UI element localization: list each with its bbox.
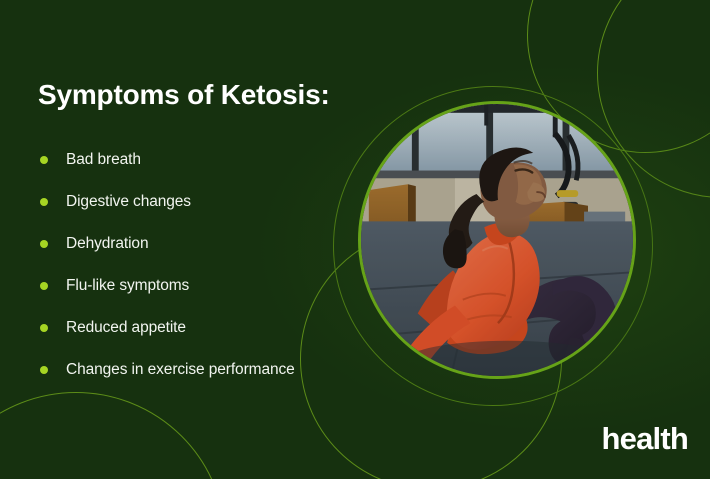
bullet-dot-icon — [40, 324, 48, 332]
brand-logo: health — [602, 421, 689, 457]
photo-circle — [358, 101, 636, 379]
bullet-dot-icon — [40, 282, 48, 290]
list-item: Digestive changes — [38, 181, 398, 223]
bullet-dot-icon — [40, 198, 48, 206]
list-item: Bad breath — [38, 139, 398, 181]
list-item: Changes in exercise performance — [38, 349, 398, 391]
page-title: Symptoms of Ketosis: — [38, 79, 330, 111]
list-item: Flu-like symptoms — [38, 265, 398, 307]
bullet-dot-icon — [40, 240, 48, 248]
list-item-label: Changes in exercise performance — [66, 361, 295, 379]
photo-image — [361, 104, 633, 376]
symptoms-list: Bad breath Digestive changes Dehydration… — [38, 139, 398, 391]
infographic-slide: Symptoms of Ketosis: Bad breath Digestiv… — [0, 0, 710, 479]
list-item-label: Bad breath — [66, 151, 141, 169]
list-item-label: Digestive changes — [66, 193, 191, 211]
list-item-label: Dehydration — [66, 235, 148, 253]
gym-photo-illustration — [361, 104, 633, 376]
bullet-dot-icon — [40, 156, 48, 164]
list-item: Dehydration — [38, 223, 398, 265]
list-item: Reduced appetite — [38, 307, 398, 349]
list-item-label: Flu-like symptoms — [66, 277, 189, 295]
list-item-label: Reduced appetite — [66, 319, 186, 337]
bullet-dot-icon — [40, 366, 48, 374]
decorative-circle-bottom-left — [0, 392, 226, 479]
